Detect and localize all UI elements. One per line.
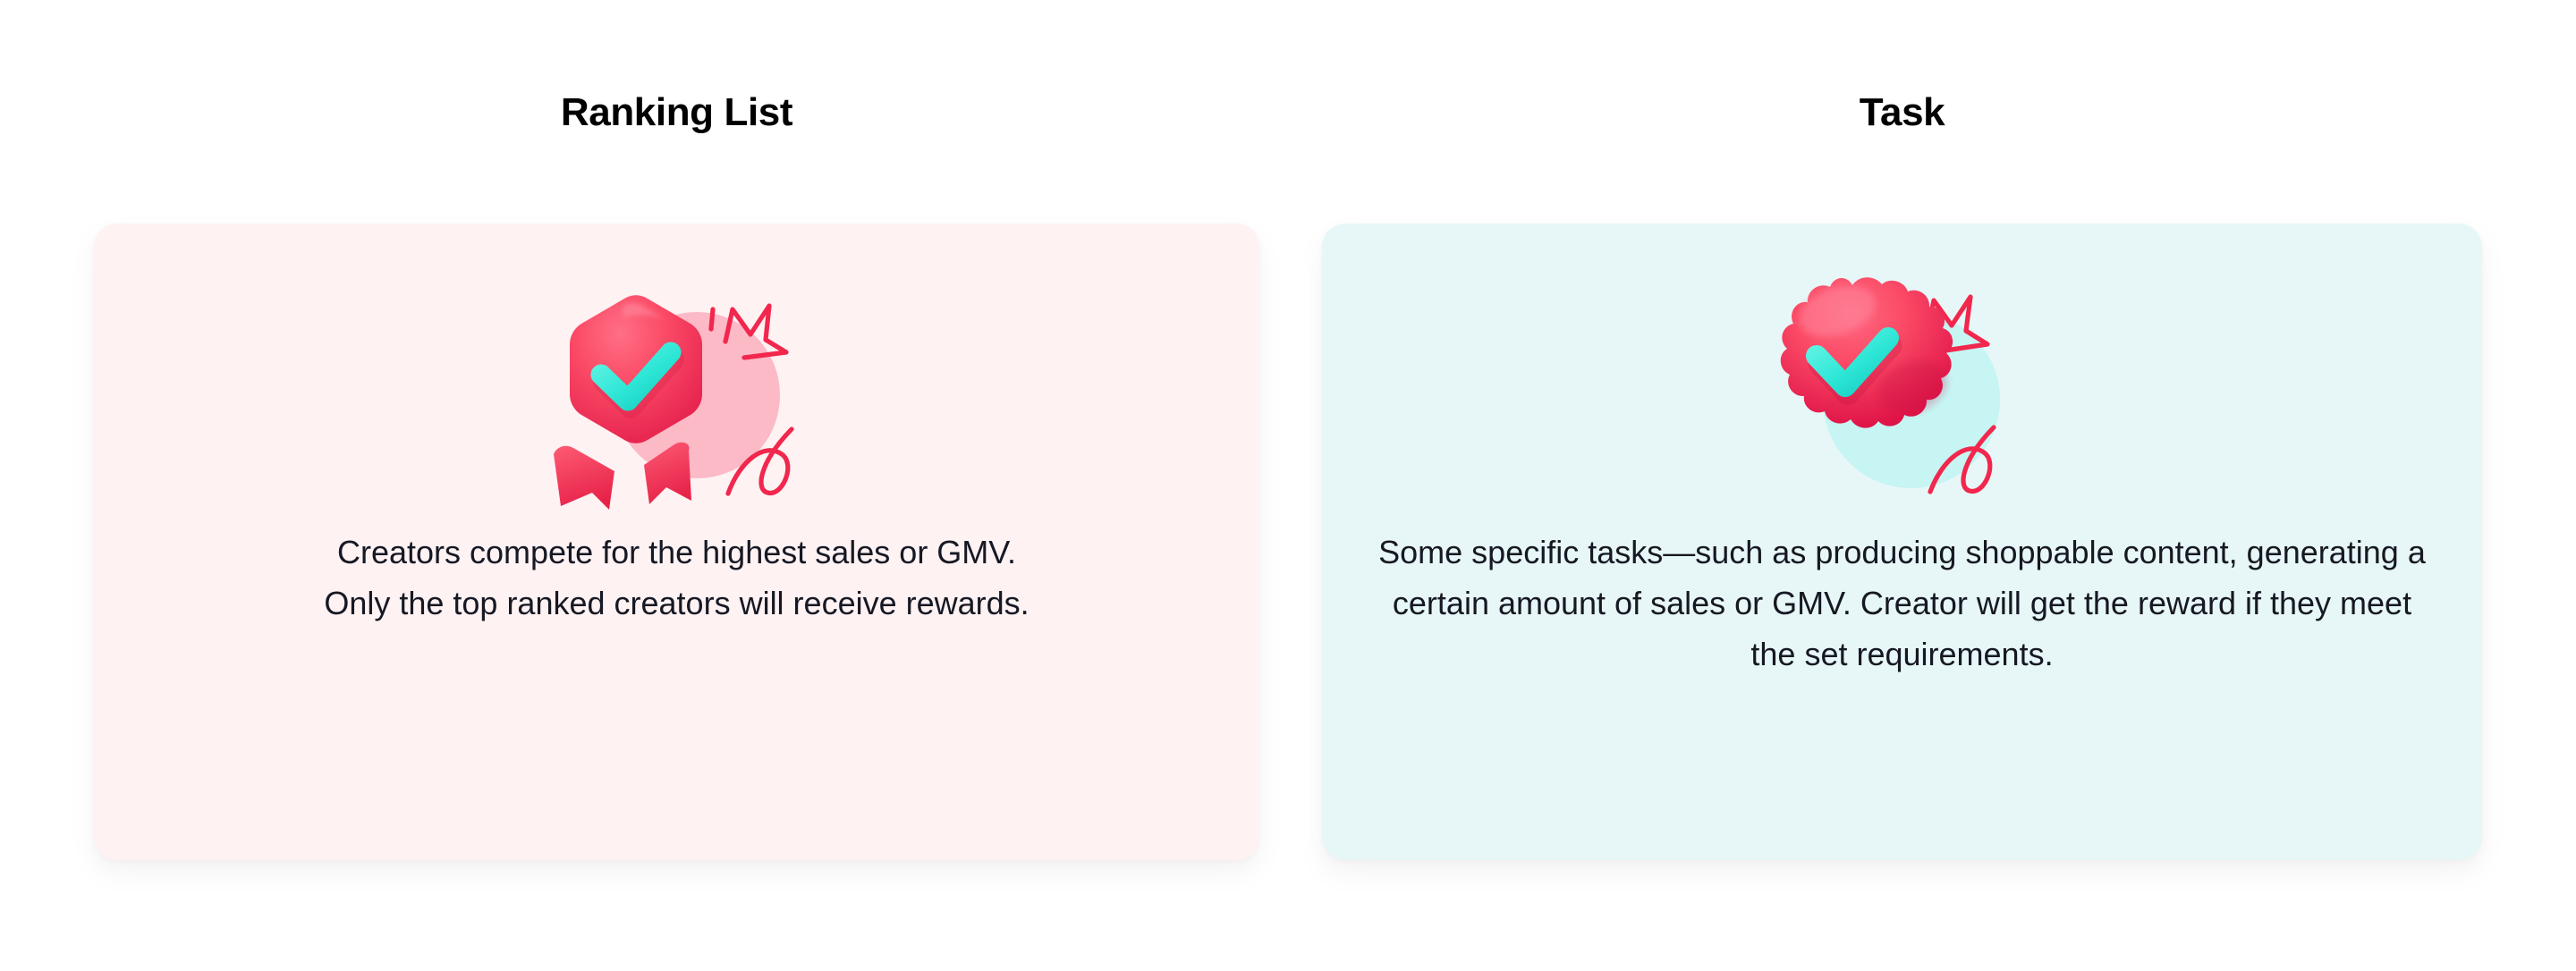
page-root: Ranking List: [0, 0, 2576, 971]
column-title-task: Task: [1322, 93, 2482, 132]
card-body-task: Some specific tasks—such as producing sh…: [1322, 528, 2482, 680]
ribbon-tails: [554, 443, 691, 510]
card-ranking-list[interactable]: Creators compete for the highest sales o…: [94, 224, 1259, 860]
column-title-ranking-list: Ranking List: [94, 93, 1259, 132]
task-illustration: [1755, 270, 2050, 511]
card-task[interactable]: Some specific tasks—such as producing sh…: [1322, 224, 2482, 860]
card-body-ranking-list: Creators compete for the highest sales o…: [94, 528, 1259, 629]
ranking-list-illustration: [530, 270, 825, 511]
